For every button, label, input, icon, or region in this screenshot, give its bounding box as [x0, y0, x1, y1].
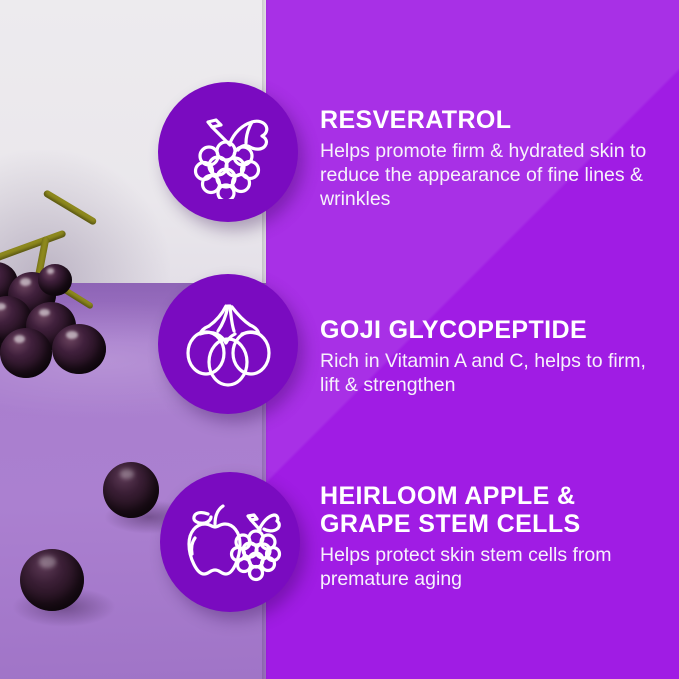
feature-icon-circle-stem-cells [160, 472, 300, 612]
loose-grape [103, 462, 159, 518]
feature-text-stem-cells: HEIRLOOM APPLE & GRAPE STEM CELLS Helps … [320, 482, 650, 592]
grape-bunch-icon [182, 105, 274, 199]
feature-body: Helps promote firm & hydrated skin to re… [320, 140, 650, 211]
apple-and-grape-icon [178, 494, 282, 590]
feature-heading: RESVERATROL [320, 106, 650, 134]
feature-body: Helps protect skin stem cells from prema… [320, 544, 650, 592]
feature-icon-circle-resveratrol [158, 82, 298, 222]
feature-icon-circle-goji [158, 274, 298, 414]
feature-heading: GOJI GLYCOPEPTIDE [320, 316, 650, 344]
feature-text-resveratrol: RESVERATROL Helps promote firm & hydrate… [320, 106, 650, 211]
goji-berries-icon [180, 298, 276, 390]
grape-cluster [0, 200, 180, 390]
feature-heading: HEIRLOOM APPLE & GRAPE STEM CELLS [320, 482, 650, 538]
feature-body: Rich in Vitamin A and C, helps to firm, … [320, 350, 650, 398]
loose-grape [20, 549, 84, 611]
ingredient-benefits-infographic: RESVERATROL Helps promote firm & hydrate… [0, 0, 679, 679]
feature-text-goji: GOJI GLYCOPEPTIDE Rich in Vitamin A and … [320, 316, 650, 398]
